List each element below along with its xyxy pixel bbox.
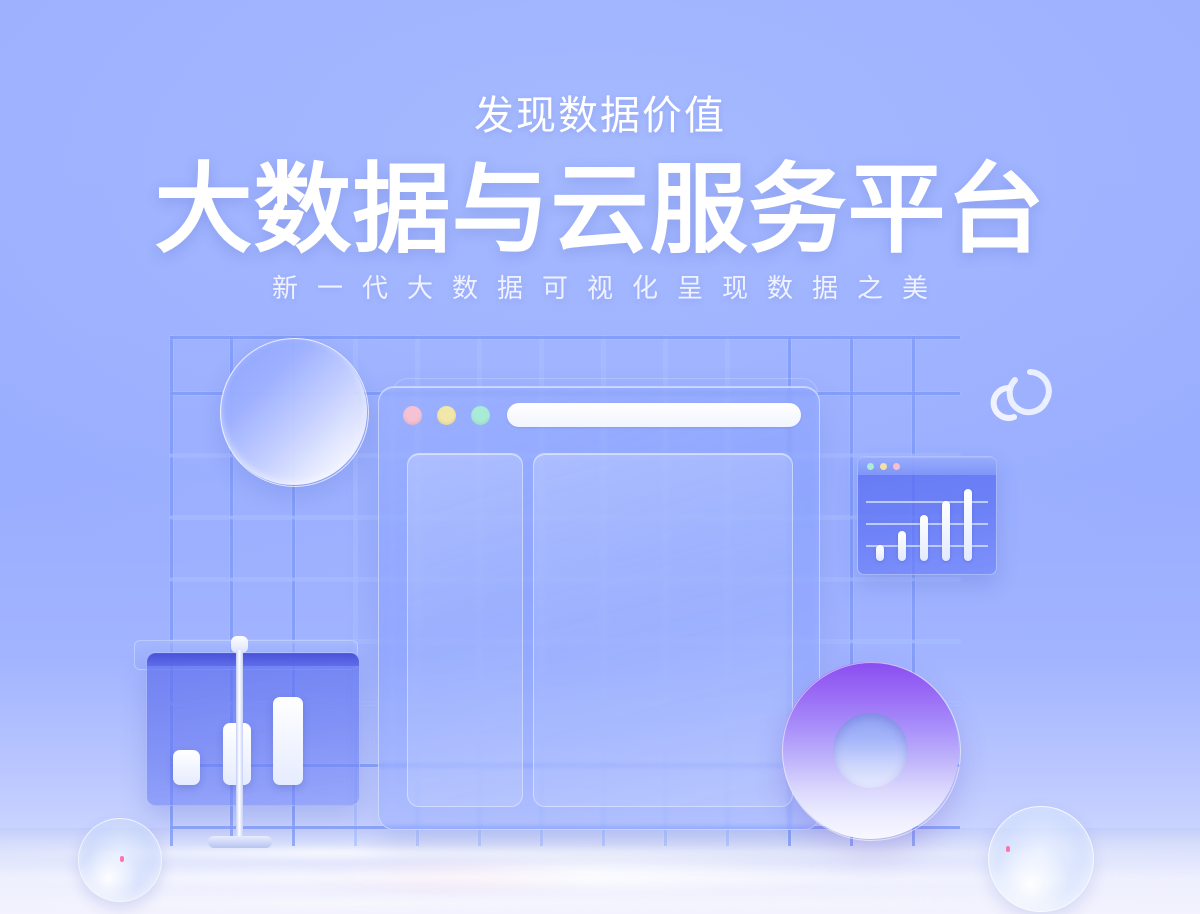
dashboard-board[interactable] [146, 652, 360, 806]
chart-bar-1 [876, 545, 884, 561]
browser-title-bar [379, 387, 819, 437]
hero-banner: 发现数据价值 大数据与云服务平台 新一代大数据可视化呈现数据之美 [0, 0, 1200, 914]
sphere-specular-highlight-1 [120, 856, 124, 862]
maximize-dot-icon[interactable] [471, 406, 490, 425]
board-bar-1 [173, 750, 200, 785]
close-dot-icon[interactable] [403, 406, 422, 425]
sphere-specular-highlight-2 [1006, 846, 1010, 852]
chart-window-title-bar [858, 457, 996, 475]
board-bar-3 [273, 697, 303, 785]
chart-bar-4 [942, 501, 950, 561]
chart-window[interactable] [857, 456, 997, 575]
cloud-icon [978, 362, 1062, 430]
browser-pane-sidebar[interactable] [407, 453, 523, 807]
page-title: 大数据与云服务平台 [0, 136, 1200, 261]
hero-subtitle: 新一代大数据可视化呈现数据之美 [0, 261, 1200, 301]
glass-sphere-large [988, 806, 1094, 912]
glass-disc-edge [220, 338, 369, 487]
gradient-torus-rim [782, 662, 961, 841]
address-bar-input[interactable] [507, 403, 801, 427]
browser-pane-content[interactable] [533, 453, 793, 807]
chart-bar-5 [964, 489, 972, 561]
chart-maximize-dot-icon[interactable] [867, 463, 874, 470]
minimize-dot-icon[interactable] [437, 406, 456, 425]
chart-bar-2 [898, 531, 906, 561]
chart-close-dot-icon[interactable] [893, 463, 900, 470]
lamp-base [208, 836, 272, 848]
hero-eyebrow: 发现数据价值 [0, 0, 1200, 136]
browser-window[interactable] [378, 386, 820, 830]
chart-bar-3 [920, 515, 928, 561]
lamp-pole [236, 650, 243, 843]
chart-minimize-dot-icon[interactable] [880, 463, 887, 470]
board-title-bar [147, 653, 359, 666]
hero-text-block: 发现数据价值 大数据与云服务平台 新一代大数据可视化呈现数据之美 [0, 0, 1200, 301]
